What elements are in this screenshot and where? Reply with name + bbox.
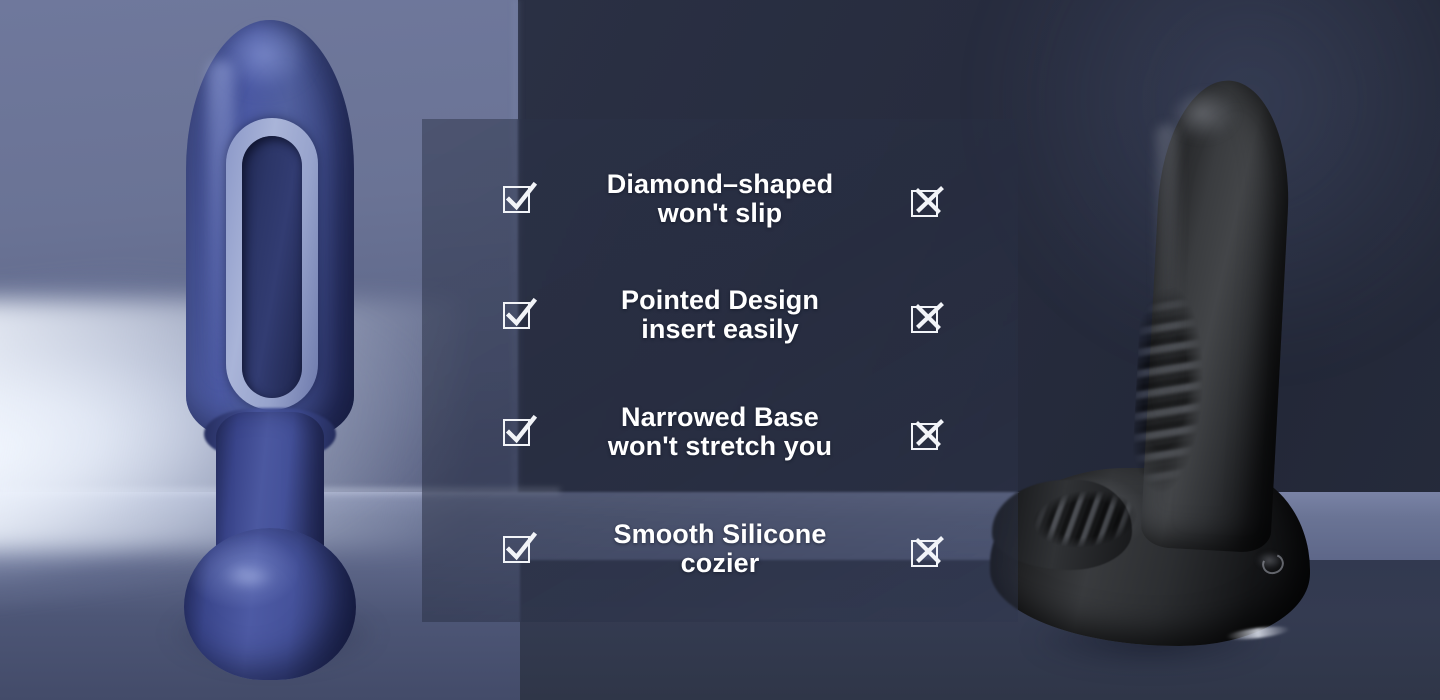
checkmark-icon: [488, 536, 544, 563]
blue-product-image: [160, 20, 380, 680]
black-product-specular: [1156, 124, 1178, 424]
black-product-image: [990, 80, 1320, 660]
feature-line-1: Smooth Silicone: [613, 519, 826, 549]
feature-text: Diamond–shaped won't slip: [544, 170, 896, 228]
feature-line-1: Diamond–shaped: [607, 169, 833, 199]
feature-list: Diamond–shaped won't slip Pointed Design…: [422, 119, 1018, 622]
feature-text: Narrowed Base won't stretch you: [544, 403, 896, 461]
blue-product-oval-core: [242, 136, 302, 398]
feature-text: Smooth Silicone cozier: [544, 520, 896, 578]
feature-row: Pointed Design insert easily: [422, 260, 1018, 370]
feature-line-2: cozier: [548, 549, 892, 578]
product-comparison-graphic: Diamond–shaped won't slip Pointed Design…: [0, 0, 1440, 700]
feature-line-2: won't slip: [548, 199, 892, 228]
cross-icon: [896, 531, 952, 567]
feature-line-1: Pointed Design: [621, 285, 819, 315]
cross-icon: [896, 181, 952, 217]
checkmark-icon: [488, 419, 544, 446]
feature-text: Pointed Design insert easily: [544, 286, 896, 344]
cross-icon: [896, 297, 952, 333]
checkmark-icon: [488, 186, 544, 213]
blue-product-tip-highlight: [222, 26, 318, 122]
black-product-ridges: [1130, 278, 1227, 502]
feature-row: Narrowed Base won't stretch you: [422, 377, 1018, 487]
blue-product-base-highlight: [212, 560, 286, 594]
blue-product-base: [184, 528, 356, 680]
feature-line-1: Narrowed Base: [621, 402, 819, 432]
checkmark-icon: [488, 302, 544, 329]
feature-row: Diamond–shaped won't slip: [422, 144, 1018, 254]
feature-line-2: insert easily: [548, 315, 892, 344]
feature-line-2: won't stretch you: [548, 432, 892, 461]
feature-row: Smooth Silicone cozier: [422, 494, 1018, 604]
cross-icon: [896, 414, 952, 450]
black-product-head-highlight: [1168, 90, 1242, 160]
